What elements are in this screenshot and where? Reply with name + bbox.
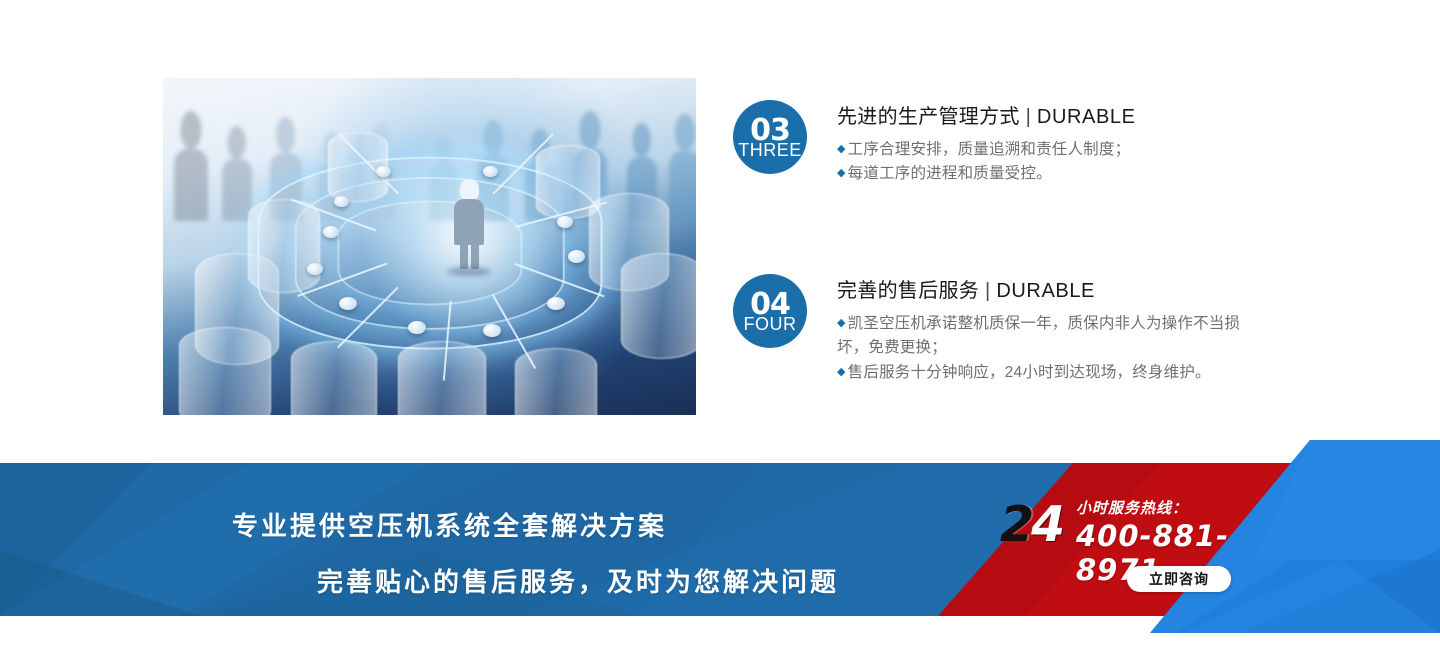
bullet-diamond-icon: ◆ bbox=[837, 317, 846, 329]
feature-bullet: ◆每道工序的进程和质量受控。 bbox=[837, 162, 1249, 186]
cylinder-4 bbox=[291, 341, 377, 415]
bullet-text: 凯圣空压机承诺整机质保一年，质保内非人为操作不当损坏，免费更换； bbox=[837, 315, 1240, 356]
feature-title-en: DURABLE bbox=[1037, 106, 1136, 128]
bullet-diamond-icon: ◆ bbox=[837, 167, 846, 179]
node-dot bbox=[339, 297, 357, 310]
cylinder-10 bbox=[515, 348, 597, 415]
feature-title-03: 先进的生产管理方式 | DURABLE bbox=[837, 100, 1249, 129]
banner-slogan-line1: 专业提供空压机系统全套解决方案 bbox=[232, 506, 667, 543]
bullet-text: 每道工序的进程和质量受控。 bbox=[848, 165, 1052, 182]
node-dot bbox=[483, 166, 498, 177]
bullet-diamond-icon: ◆ bbox=[837, 366, 846, 378]
cylinder-7 bbox=[536, 145, 600, 219]
node-dot bbox=[408, 321, 426, 334]
hotline-24-badge: 24 bbox=[1000, 496, 1062, 553]
node-dot bbox=[568, 250, 585, 263]
hotline-label: 小时服务热线： bbox=[1076, 497, 1188, 518]
banner-text-group: 专业提供空压机系统全套解决方案 完善贴心的售后服务，及时为您解决问题 24 小时… bbox=[0, 440, 1440, 663]
badge-word: THREE bbox=[738, 141, 802, 159]
badge-word: FOUR bbox=[744, 315, 797, 333]
bullet-text: 工序合理安排，质量追溯和责任人制度； bbox=[848, 141, 1131, 158]
feature-body-03: 先进的生产管理方式 | DURABLE ◆工序合理安排，质量追溯和责任人制度； … bbox=[837, 100, 1249, 187]
feature-title-separator: | bbox=[985, 280, 991, 302]
consult-now-button[interactable]: 立即咨询 bbox=[1127, 566, 1231, 592]
feature-title-separator: | bbox=[1026, 106, 1032, 128]
node-dot bbox=[547, 297, 565, 310]
feature-block-03: 03 THREE 先进的生产管理方式 | DURABLE ◆工序合理安排，质量追… bbox=[733, 100, 1253, 210]
central-person-figure bbox=[456, 179, 482, 265]
banner-slogan-line2: 完善贴心的售后服务，及时为您解决问题 bbox=[317, 562, 839, 599]
cylinder-2 bbox=[248, 199, 320, 293]
feature-title-04: 完善的售后服务 | DURABLE bbox=[837, 274, 1249, 303]
hotline-24-four: 4 bbox=[1031, 496, 1062, 553]
feature-title-cn: 完善的售后服务 bbox=[837, 280, 979, 302]
badge-03: 03 THREE bbox=[733, 100, 807, 174]
node-dot bbox=[334, 196, 349, 207]
feature-body-04: 完善的售后服务 | DURABLE ◆凯圣空压机承诺整机质保一年，质保内非人为操… bbox=[837, 274, 1249, 385]
node-dot bbox=[483, 324, 501, 337]
network-concept-image bbox=[163, 78, 696, 415]
feature-bullet: ◆售后服务十分钟响应，24小时到达现场，终身维护。 bbox=[837, 361, 1249, 385]
feature-bullet: ◆凯圣空压机承诺整机质保一年，质保内非人为操作不当损坏，免费更换； bbox=[837, 312, 1249, 361]
cylinder-6 bbox=[621, 253, 696, 359]
cylinder-9 bbox=[398, 341, 486, 415]
badge-04: 04 FOUR bbox=[733, 274, 807, 348]
node-dot bbox=[376, 166, 391, 177]
cylinder-3 bbox=[179, 327, 271, 415]
feature-title-en: DURABLE bbox=[996, 280, 1095, 302]
hud-ring-inner bbox=[337, 201, 522, 306]
bullet-text: 售后服务十分钟响应，24小时到达现场，终身维护。 bbox=[848, 364, 1211, 381]
hotline-group: 24 小时服务热线： 400-881-8971 bbox=[1000, 492, 1260, 612]
bullet-diamond-icon: ◆ bbox=[837, 143, 846, 155]
content-area: 03 THREE 先进的生产管理方式 | DURABLE ◆工序合理安排，质量追… bbox=[0, 0, 1440, 445]
feature-block-04: 04 FOUR 完善的售后服务 | DURABLE ◆凯圣空压机承诺整机质保一年… bbox=[733, 274, 1253, 414]
bottom-cta-banner: 专业提供空压机系统全套解决方案 完善贴心的售后服务，及时为您解决问题 24 小时… bbox=[0, 440, 1440, 663]
feature-bullet: ◆工序合理安排，质量追溯和责任人制度； bbox=[837, 138, 1249, 162]
feature-title-cn: 先进的生产管理方式 bbox=[837, 106, 1020, 128]
